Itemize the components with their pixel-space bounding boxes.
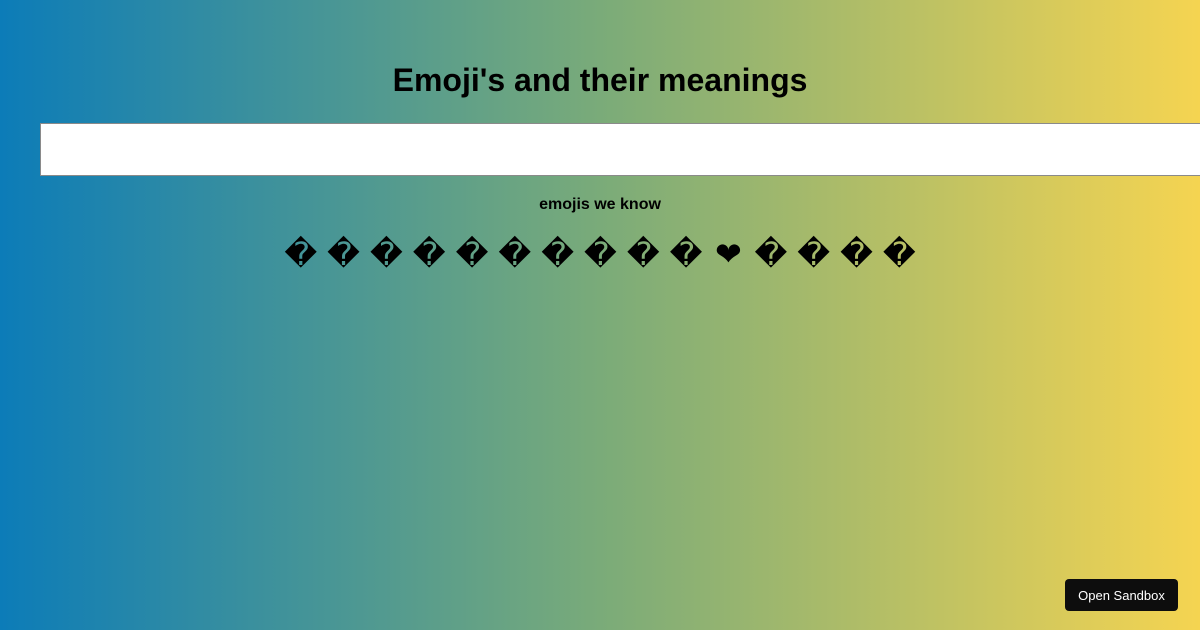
open-sandbox-button[interactable]: Open Sandbox (1065, 579, 1178, 611)
emoji-tofu-13[interactable]: � (797, 232, 830, 276)
emoji-tofu-15[interactable]: � (883, 232, 916, 276)
emoji-tofu-7[interactable]: � (541, 232, 574, 276)
emoji-tofu-14[interactable]: � (840, 232, 873, 276)
emoji-tofu-5[interactable]: � (456, 232, 489, 276)
emoji-tofu-12[interactable]: � (754, 232, 787, 276)
emoji-tofu-6[interactable]: � (498, 232, 531, 276)
emoji-section-heading: emojis we know (0, 195, 1200, 215)
emoji-tofu-2[interactable]: � (327, 232, 360, 276)
emoji-tofu-3[interactable]: � (370, 232, 403, 276)
emoji-tofu-4[interactable]: � (413, 232, 446, 276)
emoji-tofu-10[interactable]: � (670, 232, 703, 276)
emoji-tofu-9[interactable]: � (627, 232, 660, 276)
emoji-list: ����������❤���� (0, 232, 1200, 276)
app-root: Emoji's and their meanings emojis we kno… (0, 0, 1200, 630)
emoji-tofu-1[interactable]: � (284, 232, 317, 276)
emoji-heart[interactable]: ❤ (712, 232, 744, 276)
page-title: Emoji's and their meanings (0, 57, 1200, 103)
emoji-search-input[interactable] (40, 123, 1200, 176)
emoji-tofu-8[interactable]: � (584, 232, 617, 276)
